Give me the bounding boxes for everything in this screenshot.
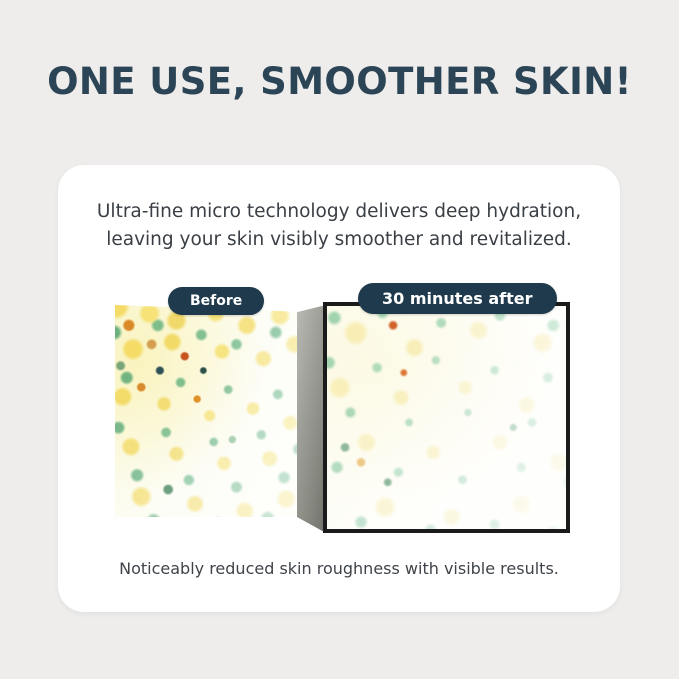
content-card: Ultra-fine micro technology delivers dee… — [58, 165, 620, 612]
after-skin-texture — [323, 302, 570, 533]
before-image-panel — [115, 305, 300, 517]
after-image-panel — [323, 302, 570, 533]
result-caption: Noticeably reduced skin roughness with v… — [58, 559, 620, 578]
slab-edge-3d — [297, 305, 326, 533]
before-badge: Before — [168, 287, 264, 315]
promo-page: { "page": { "background_color": "#eeedec… — [0, 0, 679, 679]
page-title: ONE USE, SMOOTHER SKIN! — [0, 62, 679, 103]
before-after-comparison: Before 30 minutes after — [58, 165, 620, 612]
before-skin-texture — [115, 305, 300, 517]
after-badge: 30 minutes after — [358, 283, 557, 314]
